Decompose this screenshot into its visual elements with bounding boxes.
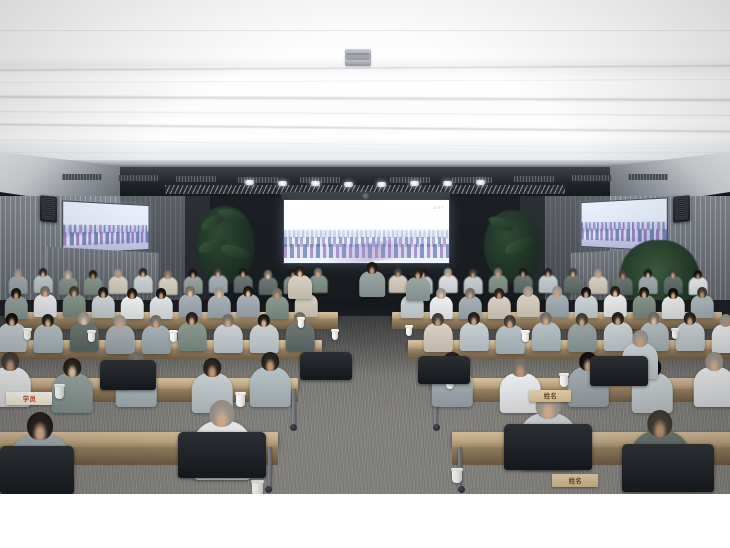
ceiling-projector-box-icon <box>345 49 371 66</box>
seated-attendee <box>250 352 291 411</box>
left-screen-skyline-near <box>63 232 148 246</box>
attendee-torso <box>712 324 730 353</box>
attendee-head <box>264 270 272 279</box>
desk-leg <box>268 447 272 489</box>
attendee-head <box>214 287 224 298</box>
name-placard: 姓名 <box>529 390 571 402</box>
attendee-head <box>523 286 533 297</box>
attendee-head <box>203 358 221 377</box>
attendee-head <box>394 268 402 277</box>
name-placard: 姓名 <box>552 474 598 487</box>
ceiling-rail-2 <box>0 78 730 83</box>
tea-cup-lid <box>54 384 65 387</box>
attendee-torso <box>142 325 171 354</box>
seated-attendee <box>460 312 489 354</box>
track-spot-7 <box>443 181 452 186</box>
attendee-head <box>1 352 19 371</box>
ceiling-vent-10 <box>628 174 668 180</box>
main-screen-logo: CITY <box>433 205 444 210</box>
ceiling <box>0 0 730 172</box>
tea-cup-lid <box>251 480 264 483</box>
attendee-head <box>697 287 707 298</box>
tea-cup <box>560 375 568 387</box>
seated-attendee <box>694 352 730 411</box>
ceiling-vent-9 <box>572 175 612 181</box>
tea-cup-lid <box>169 330 178 333</box>
attendee-head <box>436 288 446 299</box>
ceiling-vent-8 <box>514 176 554 182</box>
name-placard-text: 学员 <box>22 394 36 403</box>
tea-cup <box>236 394 245 407</box>
main-led-wall[interactable]: CITY <box>283 199 450 264</box>
tea-cup <box>88 332 95 342</box>
tea-cup <box>252 482 263 494</box>
track-spot-6 <box>410 181 419 186</box>
seated-attendee <box>568 313 597 355</box>
speaker-grill-left <box>42 197 55 220</box>
attendee-head <box>594 269 602 278</box>
tea-cup-lid <box>331 329 339 332</box>
attendee-head <box>519 268 527 277</box>
attendee-head <box>214 268 222 277</box>
attendee-head <box>239 268 247 277</box>
tea-cup <box>406 327 412 336</box>
attendee-torso <box>250 367 291 408</box>
office-chair <box>300 352 352 380</box>
seated-attendee <box>106 315 135 357</box>
conference-room-photo: CITY <box>0 0 730 494</box>
plant-leaf <box>219 241 251 263</box>
attendee-head <box>27 412 53 440</box>
ceiling-vent-4 <box>238 177 278 183</box>
attendee-head <box>63 358 81 377</box>
attendee-head <box>209 400 234 427</box>
attendee-torso <box>676 322 705 351</box>
attendee-head <box>243 286 253 297</box>
attendee-torso <box>288 275 312 299</box>
seated-attendee <box>676 312 705 354</box>
seated-attendee <box>142 315 171 357</box>
name-placard-text: 姓名 <box>543 392 557 401</box>
ceiling-vent-2 <box>118 175 158 181</box>
ceiling-vent-5 <box>300 177 340 183</box>
attendee-torso <box>178 322 207 351</box>
attendee-head <box>544 268 552 277</box>
attendee-torso <box>406 277 430 301</box>
seated-attendee <box>250 314 279 356</box>
attendee-torso <box>250 324 279 353</box>
track-spot-8 <box>476 180 485 185</box>
attendee-head <box>494 288 504 299</box>
office-chair <box>622 444 714 492</box>
office-chair <box>590 356 648 386</box>
seated-attendee <box>214 314 243 356</box>
attendee-head <box>444 268 452 277</box>
tea-cup <box>24 330 31 340</box>
attendee-head <box>64 270 72 279</box>
attendee-head <box>632 330 648 347</box>
seated-attendee <box>712 314 730 356</box>
tea-cup-lid <box>405 325 413 328</box>
attendee-head <box>156 288 166 299</box>
speaker-grill-right <box>675 197 688 220</box>
plant-leaf <box>503 236 535 257</box>
tea-cup <box>522 332 529 342</box>
attendee-torso <box>214 324 243 353</box>
track-spot-5 <box>377 182 386 187</box>
ceiling-seam-2 <box>0 152 730 153</box>
name-placard: 学员 <box>6 392 52 405</box>
office-chair <box>418 356 470 384</box>
track-spot-1 <box>245 180 254 185</box>
screenshot-root: CITY <box>0 0 730 548</box>
attendee-head <box>114 269 122 278</box>
attendee-head <box>469 269 477 278</box>
attendee-head <box>705 352 723 371</box>
attendee-head <box>669 269 677 278</box>
ceiling-seam-1 <box>0 30 730 31</box>
attendee-head <box>40 286 50 297</box>
attendee-head <box>272 288 282 299</box>
desk-leg <box>292 389 296 425</box>
attendee-head <box>164 270 172 279</box>
tea-cup-lid <box>87 330 96 333</box>
attendee-head <box>261 352 279 371</box>
wall-speaker-left-icon <box>40 195 57 223</box>
seated-attendee <box>178 312 207 354</box>
name-placard-text: 姓名 <box>568 476 582 485</box>
attendee-head <box>639 287 649 298</box>
attendee-head <box>619 270 627 279</box>
track-spot-2 <box>278 181 287 186</box>
desk-caster <box>458 486 465 493</box>
attendee-torso <box>34 324 63 353</box>
attendee-head <box>610 286 620 297</box>
tea-cup <box>452 470 462 483</box>
office-chair <box>100 360 156 390</box>
attendee-head <box>668 288 678 299</box>
attendee-head <box>14 269 22 278</box>
tea-cup <box>298 319 304 328</box>
ceiling-vent-1 <box>62 174 102 180</box>
attendee-head <box>720 314 730 327</box>
attendee-torso <box>694 367 730 408</box>
tea-cup <box>332 331 338 340</box>
tea-cup-lid <box>559 373 569 376</box>
seated-attendee <box>34 314 63 356</box>
seated-attendee <box>359 262 385 299</box>
ceiling-vent-7 <box>452 177 492 183</box>
tea-cup <box>672 330 678 339</box>
office-chair <box>0 446 74 494</box>
attendee-head <box>69 286 79 297</box>
attendee-torso <box>496 325 525 354</box>
seated-attendee <box>496 315 525 357</box>
desk-caster <box>265 486 272 493</box>
attendee-head <box>644 269 652 278</box>
attendee-head <box>11 288 21 299</box>
attendee-head <box>694 270 702 279</box>
attendee-head <box>314 268 322 277</box>
left-screen-content <box>63 201 148 253</box>
desk-caster <box>290 424 297 431</box>
attendee-head <box>465 288 475 299</box>
attendee-head <box>39 268 47 277</box>
attendee-torso <box>424 323 453 352</box>
tea-cup-lid <box>671 328 679 331</box>
attendee-head <box>581 287 591 298</box>
attendee-torso <box>359 271 385 297</box>
attendee-torso <box>460 322 489 351</box>
tea-cup <box>55 386 64 399</box>
tea-cup-lid <box>297 317 305 320</box>
track-spot-4 <box>344 182 353 187</box>
track-spot-3 <box>311 181 320 186</box>
attendee-torso <box>106 325 135 354</box>
seated-attendee <box>424 313 453 355</box>
attendee-head <box>139 268 147 277</box>
bottom-white-margin <box>0 494 730 548</box>
seated-attendee <box>288 266 312 301</box>
attendee-head <box>366 262 377 274</box>
left-led-screen[interactable] <box>62 200 149 254</box>
office-chair <box>504 424 592 470</box>
tea-cup-lid <box>235 392 246 395</box>
seated-attendee <box>406 268 430 303</box>
seated-attendee <box>532 312 561 354</box>
wall-speaker-right-icon <box>673 195 690 223</box>
attendee-head <box>127 288 137 299</box>
attendee-head <box>647 410 672 437</box>
attendee-head <box>89 270 97 279</box>
tea-cup-lid <box>23 328 32 331</box>
attendee-torso <box>532 322 561 351</box>
attendee-head <box>552 286 562 297</box>
attendee-head <box>494 268 502 277</box>
main-screen-sky <box>284 200 449 233</box>
desk-caster <box>433 424 440 431</box>
tea-cup-lid <box>521 330 530 333</box>
attendee-torso <box>568 323 597 352</box>
ceiling-vent-3 <box>176 176 216 182</box>
plant-leaf <box>487 213 515 234</box>
attendee-head <box>185 286 195 297</box>
attendee-head <box>189 269 197 278</box>
attendee-head <box>98 287 108 298</box>
office-chair <box>178 432 266 478</box>
seated-attendee <box>0 313 26 355</box>
tea-cup <box>170 332 177 342</box>
main-screen-content <box>284 200 449 263</box>
attendee-head <box>511 358 529 377</box>
attendee-head <box>569 268 577 277</box>
tea-cup-lid <box>451 468 463 471</box>
